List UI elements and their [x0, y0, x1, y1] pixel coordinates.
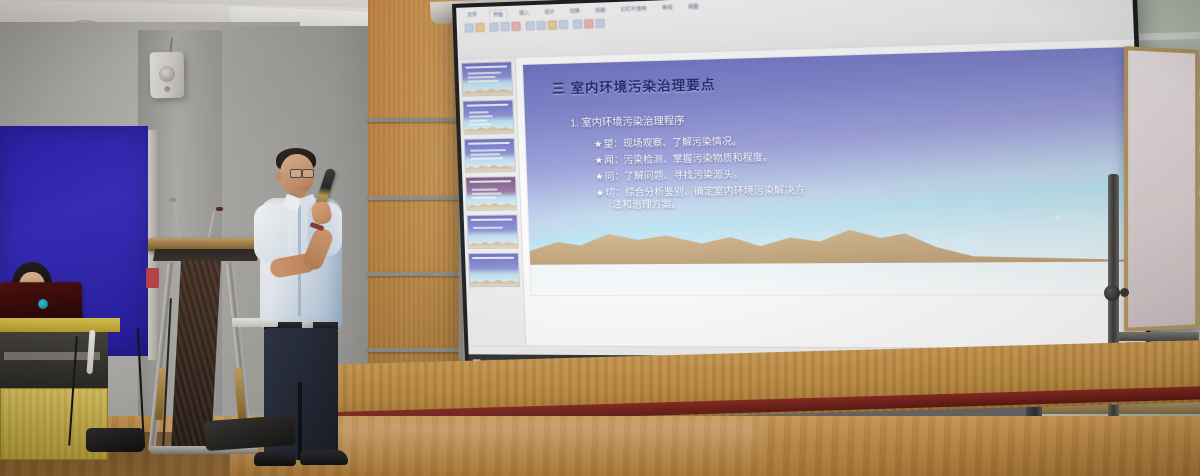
slide-base-band: [530, 262, 1133, 295]
slide-bullet-text: 望：现场观察、了解污染情况。: [603, 136, 742, 150]
slide-thumbnail[interactable]: [464, 138, 516, 173]
lectern-leg: [148, 262, 175, 451]
ribbon-tab-design[interactable]: 设计: [541, 7, 558, 18]
thumbnail-text-line: [470, 157, 503, 159]
ribbon-tab-view[interactable]: 视图: [685, 2, 702, 13]
slide-bullet-text: 问：了解问题、寻找污染源头。: [605, 170, 744, 183]
slide-thumbnail[interactable]: [462, 100, 514, 135]
thumbnail-text-line: [469, 123, 491, 125]
slide-bullet-list: ★望：现场观察、了解污染情况。 ★闻：污染检测、掌握污染物质和程度。 ★问：了解…: [594, 129, 1098, 212]
presenter-shoe: [254, 452, 296, 466]
whiteboard-surface: [1128, 50, 1195, 327]
thumbnail-mountain-graphic: [464, 125, 513, 134]
ribbon-tab-insert[interactable]: 插入: [516, 8, 532, 19]
gooseneck-mic-head: [216, 207, 223, 211]
wall-speaker: [150, 52, 185, 99]
laptop-lid: [0, 282, 82, 320]
thumbnail-title-line: [469, 180, 511, 183]
projection-screen-frame: 文件 开始 插入 设计 切换 动画 幻灯片放映 审阅 视图: [452, 0, 1152, 382]
slide-thumbnail-panel[interactable]: [458, 58, 526, 345]
thumbnail-text-line: [469, 115, 493, 117]
layout-icon[interactable]: [500, 22, 509, 31]
slide-thumbnail[interactable]: [468, 253, 520, 287]
font-color-icon[interactable]: [548, 20, 557, 29]
font-size-icon[interactable]: [559, 20, 568, 29]
projection-screen: 文件 开始 插入 设计 切换 动画 幻灯片放映 审阅 视图: [452, 0, 1152, 382]
speaker-tweeter-icon: [164, 86, 170, 92]
whiteboard-adjust-knob[interactable]: [1104, 285, 1120, 301]
slide-thumbnail[interactable]: [465, 176, 517, 211]
thumbnail-title-line: [471, 218, 513, 220]
thumbnail-mountain-graphic: [463, 86, 512, 95]
thumbnail-text-line: [470, 149, 506, 151]
cut-icon[interactable]: [475, 23, 484, 32]
slide-title: 三 室内环境污染治理要点: [552, 73, 716, 97]
presenter-sleeve-left: [254, 204, 288, 262]
ribbon-group-slides[interactable]: [489, 22, 520, 32]
slide-bullet-item: ★切：综合分析鉴别、确定室内环境污染解决方 法和治理方案。: [595, 181, 1098, 212]
thumbnail-text-line: [468, 80, 499, 82]
thumbnail-mountain-graphic: [470, 278, 519, 286]
thumbnail-text-line: [469, 119, 487, 121]
powerpoint-window: 文件 开始 插入 设计 切换 动画 幻灯片放映 审阅 视图: [456, 0, 1147, 378]
ribbon-group-clipboard[interactable]: [465, 23, 485, 33]
operator-table-top: [0, 318, 120, 332]
slide-sun-icon: [1054, 215, 1060, 220]
thumbnail-mountain-graphic: [466, 163, 515, 172]
operator-table-shelf: [4, 352, 100, 360]
thumbnail-text-line: [470, 153, 500, 155]
thumbnail-text-line: [472, 188, 498, 190]
shapes-icon[interactable]: [573, 20, 582, 29]
star-icon: ★: [594, 139, 603, 150]
ribbon-tab-file[interactable]: 文件: [464, 10, 480, 21]
arrange-icon[interactable]: [595, 19, 605, 28]
ribbon-group-font[interactable]: [525, 20, 568, 31]
thumbnail-text-line: [469, 111, 489, 113]
thumbnail-text-line: [472, 192, 502, 194]
star-icon: ★: [594, 156, 603, 167]
paste-icon[interactable]: [465, 23, 474, 32]
whiteboard-clamp: [1120, 288, 1129, 297]
presenter-leg-separation: [298, 382, 302, 460]
slide-thumbnail[interactable]: [467, 214, 519, 249]
presenter-shoe: [300, 450, 348, 465]
ribbon-tab-animations[interactable]: 动画: [592, 5, 609, 16]
thumbnail-text-line: [468, 76, 496, 78]
slide-mountain-graphic: [528, 208, 1132, 265]
thumbnail-text-line: [472, 197, 496, 199]
slide-editing-stage[interactable]: 三 室内环境污染治理要点 1. 室内环境污染治理程序 ★望：现场观察、了解污染情…: [516, 39, 1147, 348]
lecture-hall-photo: 文件 开始 插入 设计 切换 动画 幻灯片放映 审阅 视图: [0, 0, 1200, 476]
thumbnail-mountain-graphic: [468, 240, 517, 248]
thumbnail-text-line: [467, 72, 501, 74]
reset-icon[interactable]: [511, 22, 520, 31]
speaker-driver-icon: [159, 66, 175, 82]
ribbon-tab-home[interactable]: 开始: [489, 9, 507, 20]
gooseneck-mic-head: [169, 198, 176, 202]
floor-equipment: [204, 415, 296, 451]
thumbnail-title-line: [465, 65, 507, 68]
ribbon-tab-review[interactable]: 审阅: [659, 3, 676, 14]
powerpoint-main-area: 三 室内环境污染治理要点 1. 室内环境污染治理程序 ★望：现场观察、了解污染情…: [458, 39, 1146, 348]
ribbon-tab-slideshow[interactable]: 幻灯片放映: [617, 4, 649, 15]
laptop-logo-icon: [38, 299, 48, 309]
bold-icon[interactable]: [525, 21, 534, 30]
shape-fill-icon[interactable]: [584, 19, 594, 28]
thumbnail-mountain-graphic: [467, 201, 516, 210]
slide-subtitle: 1. 室内环境污染治理程序: [570, 112, 685, 130]
remote-control: [232, 318, 278, 327]
floor-equipment: [86, 428, 144, 452]
slide-bullet-text: 闻：污染检测、掌握污染物质和程度。: [604, 153, 773, 167]
current-slide[interactable]: 三 室内环境污染治理要点 1. 室内环境污染治理程序 ★望：现场观察、了解污染情…: [523, 47, 1134, 295]
new-slide-icon[interactable]: [489, 22, 498, 31]
whiteboard: [1124, 48, 1200, 330]
thumbnail-title-line: [472, 257, 514, 259]
slide-bullet-text: 切：综合分析鉴别、确定室内环境污染解决方: [605, 186, 805, 200]
glasses-icon: [290, 169, 314, 176]
ribbon-group-drawing[interactable]: [573, 19, 605, 29]
slide-thumbnail[interactable]: [461, 61, 513, 97]
ribbon-tab-transitions[interactable]: 切换: [566, 6, 583, 17]
thumbnail-title-line: [467, 104, 509, 107]
star-icon: ★: [595, 188, 604, 199]
whiteboard-frame: [1124, 46, 1199, 332]
italic-icon[interactable]: [536, 21, 545, 30]
star-icon: ★: [595, 172, 604, 183]
thumbnail-text-line: [473, 227, 503, 229]
slide-bullet-item: ★问：了解问题、寻找污染源头。: [595, 164, 1097, 184]
projection-screen-surface: 文件 开始 插入 设计 切换 动画 幻灯片放映 审阅 视图: [456, 0, 1147, 378]
thumbnail-title-line: [468, 142, 510, 145]
presenter-ear: [276, 172, 282, 181]
